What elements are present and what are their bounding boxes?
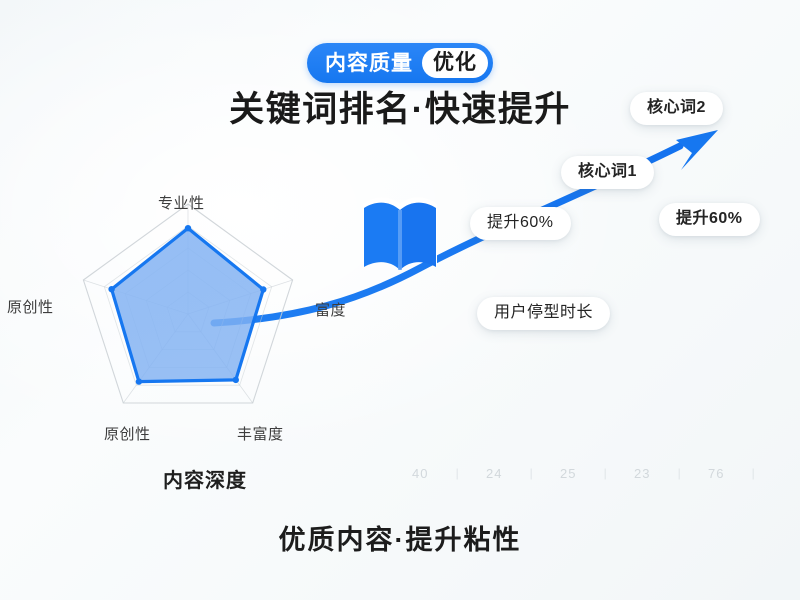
radar-point [108,286,114,292]
axis-tick-mark: | [530,466,533,480]
content-depth-label: 内容深度 [163,464,247,493]
axis-tick-mark: | [678,466,681,480]
radar-point [260,286,266,292]
radar-label-2: 丰富度 [237,423,284,444]
radar-point [233,377,239,383]
axis-tick-label: 76 [708,466,724,481]
status-badge[interactable]: 内容质量 优化 [307,43,493,83]
axis-tick-label: 40 [412,466,428,481]
page-subtitle: 优质内容·提升粘性 [0,518,800,557]
axis-tick-label: 25 [560,466,576,481]
chip-keyword-1[interactable]: 核心词1 [561,156,654,189]
radar-point [136,378,142,384]
axis-tick-row: 40|24|25|23|76| [412,462,782,484]
axis-tick-mark: | [456,466,459,480]
axis-tick-mark: | [604,466,607,480]
radar-label-4: 原创性 [7,296,54,317]
chip-improve-right[interactable]: 提升60% [659,203,760,236]
axis-tick-label: 23 [634,466,650,481]
badge-tag-label: 优化 [422,48,488,78]
axis-tick-label: 24 [486,466,502,481]
chip-improve-left[interactable]: 提升60% [470,207,571,240]
poster-canvas: 专业性 富度 丰富度 原创性 原创性 内容质量 优化 关键词排名·快速提升 提升… [0,0,800,600]
radar-series-polygon [112,228,264,381]
radar-chart: 专业性 富度 丰富度 原创性 原创性 [48,196,378,466]
axis-tick-mark: | [752,466,755,480]
radar-label-0: 专业性 [158,192,205,213]
open-book-icon [357,182,443,274]
chip-keyword-2[interactable]: 核心词2 [630,92,723,125]
radar-chart-svg [48,196,378,466]
radar-point [185,225,191,231]
badge-main-label: 内容质量 [325,53,422,74]
chip-dwell-time[interactable]: 用户停型时长 [477,297,610,330]
radar-label-3: 原创性 [104,423,151,444]
radar-label-1: 富度 [315,299,346,320]
